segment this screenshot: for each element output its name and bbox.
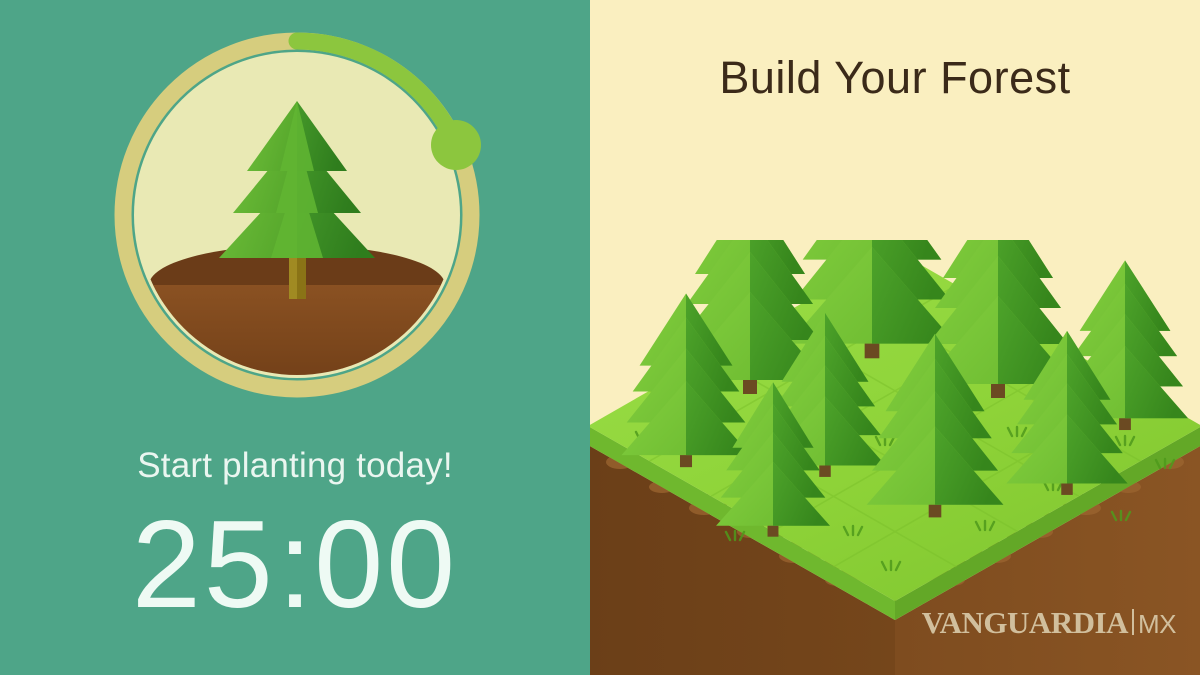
timer-seconds: 00	[314, 496, 458, 634]
tagline-text: Start planting today!	[0, 446, 590, 486]
vanguardia-watermark: VANGUARDIA MX	[922, 605, 1176, 641]
timer-minutes: 25	[132, 496, 276, 634]
watermark-brand: VANGUARDIA	[922, 605, 1128, 641]
screenshot-root: Start planting today! 25:00 Build Your F…	[0, 0, 1200, 675]
countdown-timer: 25:00	[0, 500, 590, 630]
timer-separator: :	[276, 496, 314, 634]
progress-knob	[431, 120, 481, 170]
watermark-divider	[1132, 609, 1134, 635]
timer-panel: Start planting today! 25:00	[0, 0, 590, 675]
plant-progress-badge[interactable]	[105, 23, 489, 407]
forest-panel: Build Your Forest	[590, 0, 1200, 675]
watermark-suffix: MX	[1138, 609, 1176, 640]
forest-title: Build Your Forest	[590, 52, 1200, 104]
